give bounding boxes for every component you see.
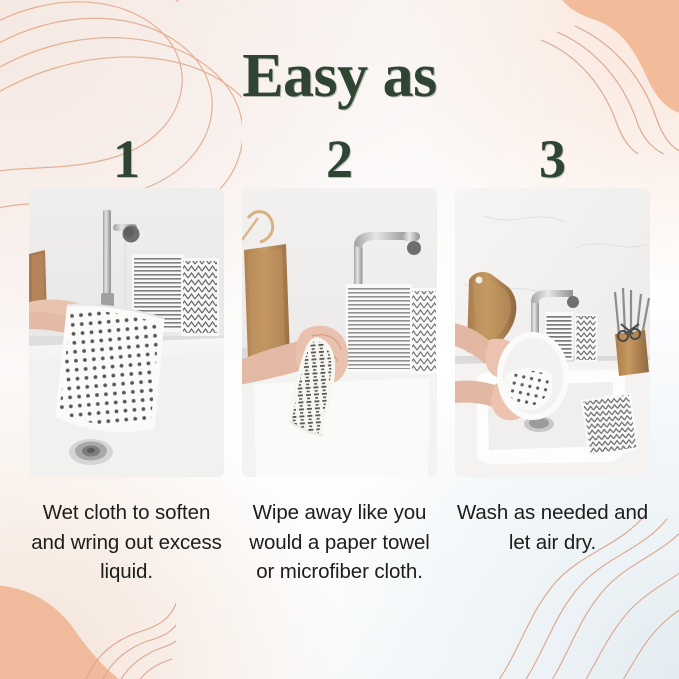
step-caption-2: Wipe away like you would a paper towel o…: [242, 498, 437, 587]
step-caption-3: Wash as needed and let air dry.: [455, 498, 650, 557]
step-column-1: 1: [29, 132, 224, 587]
step-photo-3: [455, 188, 650, 477]
step-number-3: 3: [455, 132, 650, 188]
step-number-1: 1: [29, 132, 224, 188]
step-photo-2: [242, 188, 437, 477]
step-caption-1: Wet cloth to soften and wring out excess…: [29, 498, 224, 587]
step-photo-1: [29, 188, 224, 477]
step-column-3: 3: [455, 132, 650, 557]
step-column-2: 2: [242, 132, 437, 587]
page-title: Easy as: [0, 45, 679, 107]
step-number-2: 2: [242, 132, 437, 188]
infographic-page: Easy as 1: [0, 0, 679, 679]
